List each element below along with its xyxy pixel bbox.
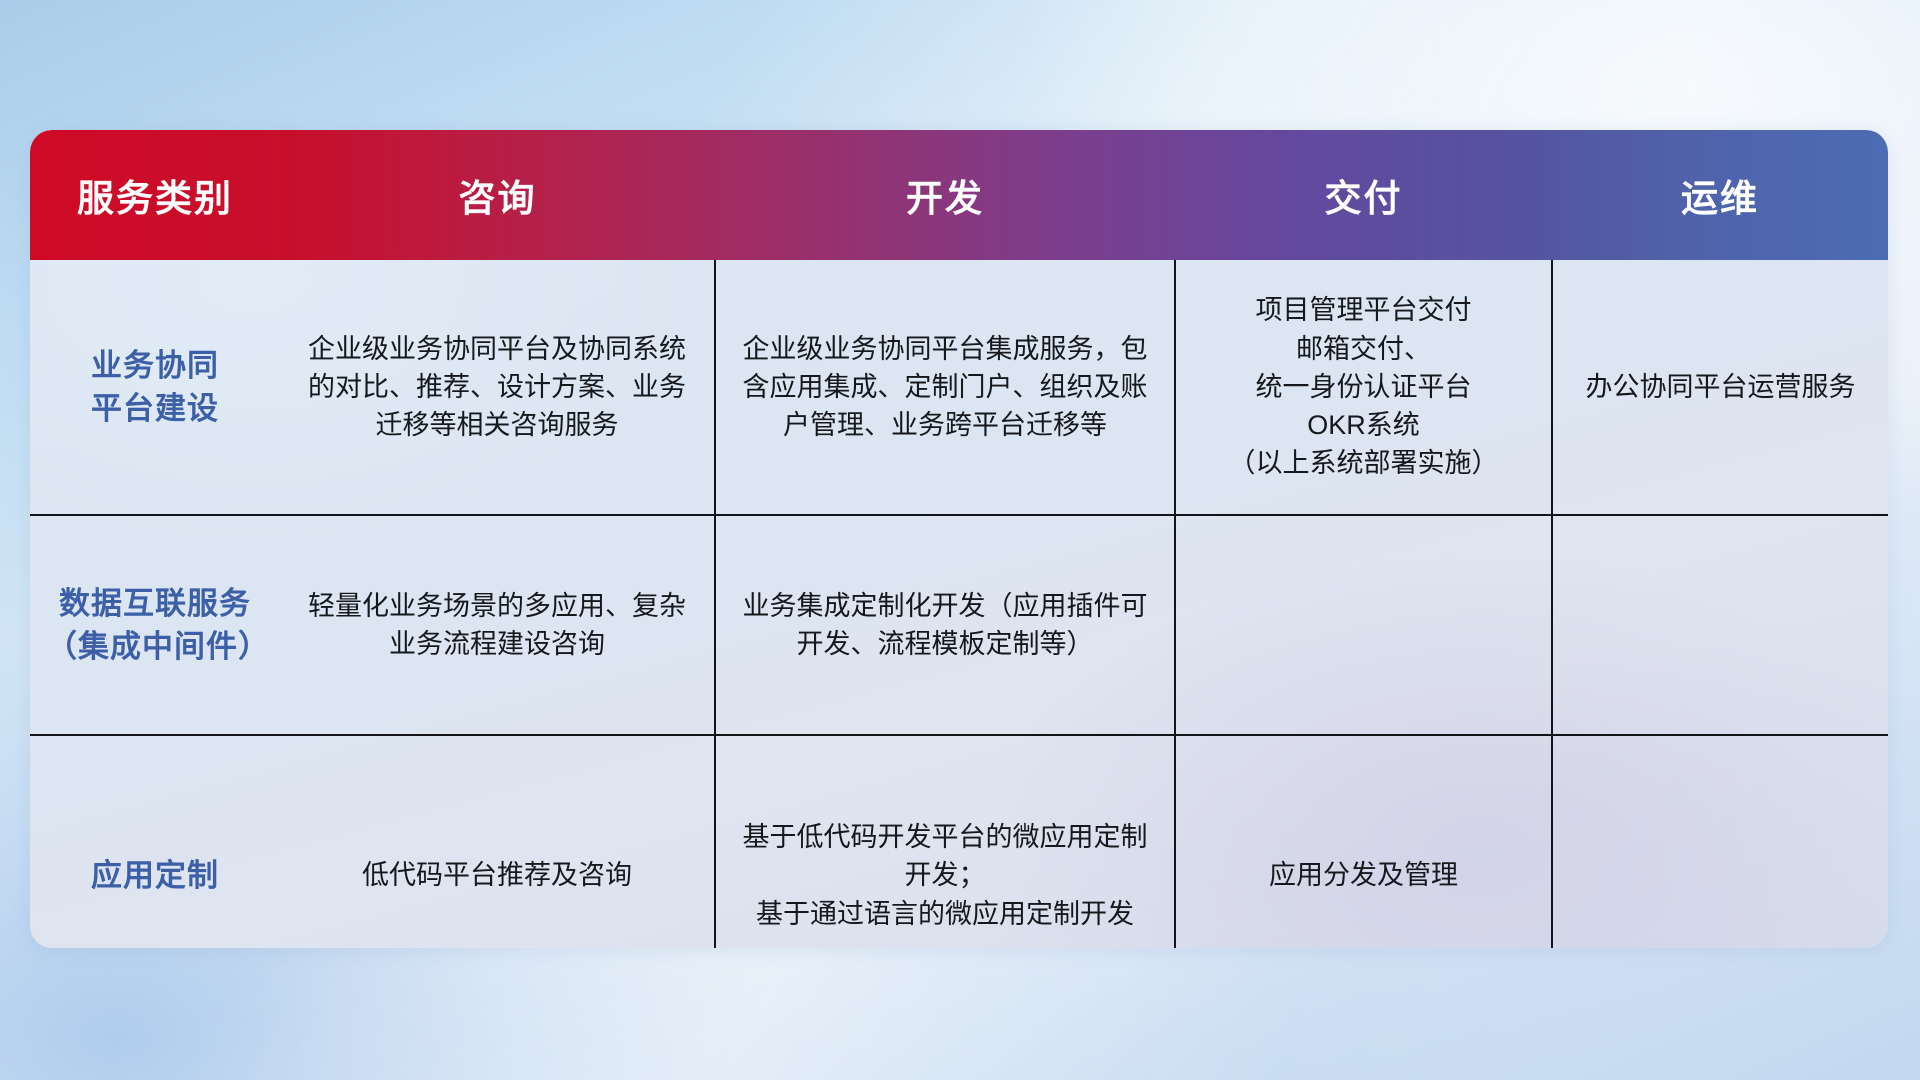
cell-consult-r3: 低代码平台推荐及咨询 [280,735,715,948]
header-row: 服务类别 咨询 开发 交付 运维 [30,130,1888,260]
header-cell-ops: 运维 [1552,130,1888,260]
table-row: 应用定制 低代码平台推荐及咨询 基于低代码开发平台的微应用定制开发； 基于通过语… [30,735,1888,948]
table-row: 业务协同 平台建设 企业级业务协同平台及协同系统的对比、推荐、设计方案、业务迁移… [30,260,1888,515]
table-row: 数据互联服务 （集成中间件） 轻量化业务场景的多应用、复杂业务流程建设咨询 业务… [30,515,1888,735]
header-cell-category: 服务类别 [30,130,280,260]
cell-line: 基于低代码开发平台的微应用定制开发； [732,818,1158,895]
service-matrix-card: 服务类别 咨询 开发 交付 运维 [30,130,1888,948]
header-label-develop: 开发 [906,178,984,219]
table-body: 业务协同 平台建设 企业级业务协同平台及协同系统的对比、推荐、设计方案、业务迁移… [30,260,1888,948]
cell-develop-r2: 业务集成定制化开发（应用插件可开发、流程模板定制等） [715,515,1175,735]
row-label-line: 数据互联服务 [46,582,264,625]
cell-line: 统一身份认证平台 [1192,368,1535,406]
row-label-line: 应用定制 [46,854,264,897]
row-label-app-customization: 应用定制 [30,735,280,948]
row-label-line: 平台建设 [46,387,264,430]
cell-develop-r1: 企业级业务协同平台集成服务，包含应用集成、定制门户、组织及账户管理、业务跨平台迁… [715,260,1175,515]
slide-canvas: 服务类别 咨询 开发 交付 运维 [0,0,1920,1080]
header-label-consult: 咨询 [459,178,537,219]
cell-line: 项目管理平台交付 [1192,291,1535,329]
header-cell-consult: 咨询 [280,130,715,260]
cell-line: OKR系统 [1192,406,1535,444]
cell-consult-r2: 轻量化业务场景的多应用、复杂业务流程建设咨询 [280,515,715,735]
row-label-data-interconnect: 数据互联服务 （集成中间件） [30,515,280,735]
cell-ops-r2 [1552,515,1888,735]
cell-ops-r1: 办公协同平台运营服务 [1552,260,1888,515]
header-cell-delivery: 交付 [1175,130,1552,260]
header-label-delivery: 交付 [1325,178,1403,219]
cell-line: 基于通过语言的微应用定制开发 [732,895,1158,933]
row-label-line: （集成中间件） [46,625,264,668]
cell-line: 邮箱交付、 [1192,330,1535,368]
row-label-line: 业务协同 [46,344,264,387]
table-header: 服务类别 咨询 开发 交付 运维 [30,130,1888,260]
header-cell-develop: 开发 [715,130,1175,260]
cell-develop-r3: 基于低代码开发平台的微应用定制开发； 基于通过语言的微应用定制开发 [715,735,1175,948]
header-label-ops: 运维 [1681,178,1759,219]
cell-line: 应用分发及管理 [1192,856,1535,894]
cell-delivery-r1: 项目管理平台交付 邮箱交付、 统一身份认证平台 OKR系统 （以上系统部署实施） [1175,260,1552,515]
service-matrix-table: 服务类别 咨询 开发 交付 运维 [30,130,1888,948]
header-label-category: 服务类别 [77,178,233,219]
cell-consult-r1: 企业级业务协同平台及协同系统的对比、推荐、设计方案、业务迁移等相关咨询服务 [280,260,715,515]
cell-ops-r3 [1552,735,1888,948]
cell-delivery-r2 [1175,515,1552,735]
cell-delivery-r3: 应用分发及管理 [1175,735,1552,948]
cell-line: （以上系统部署实施） [1192,444,1535,482]
row-label-business-collab: 业务协同 平台建设 [30,260,280,515]
